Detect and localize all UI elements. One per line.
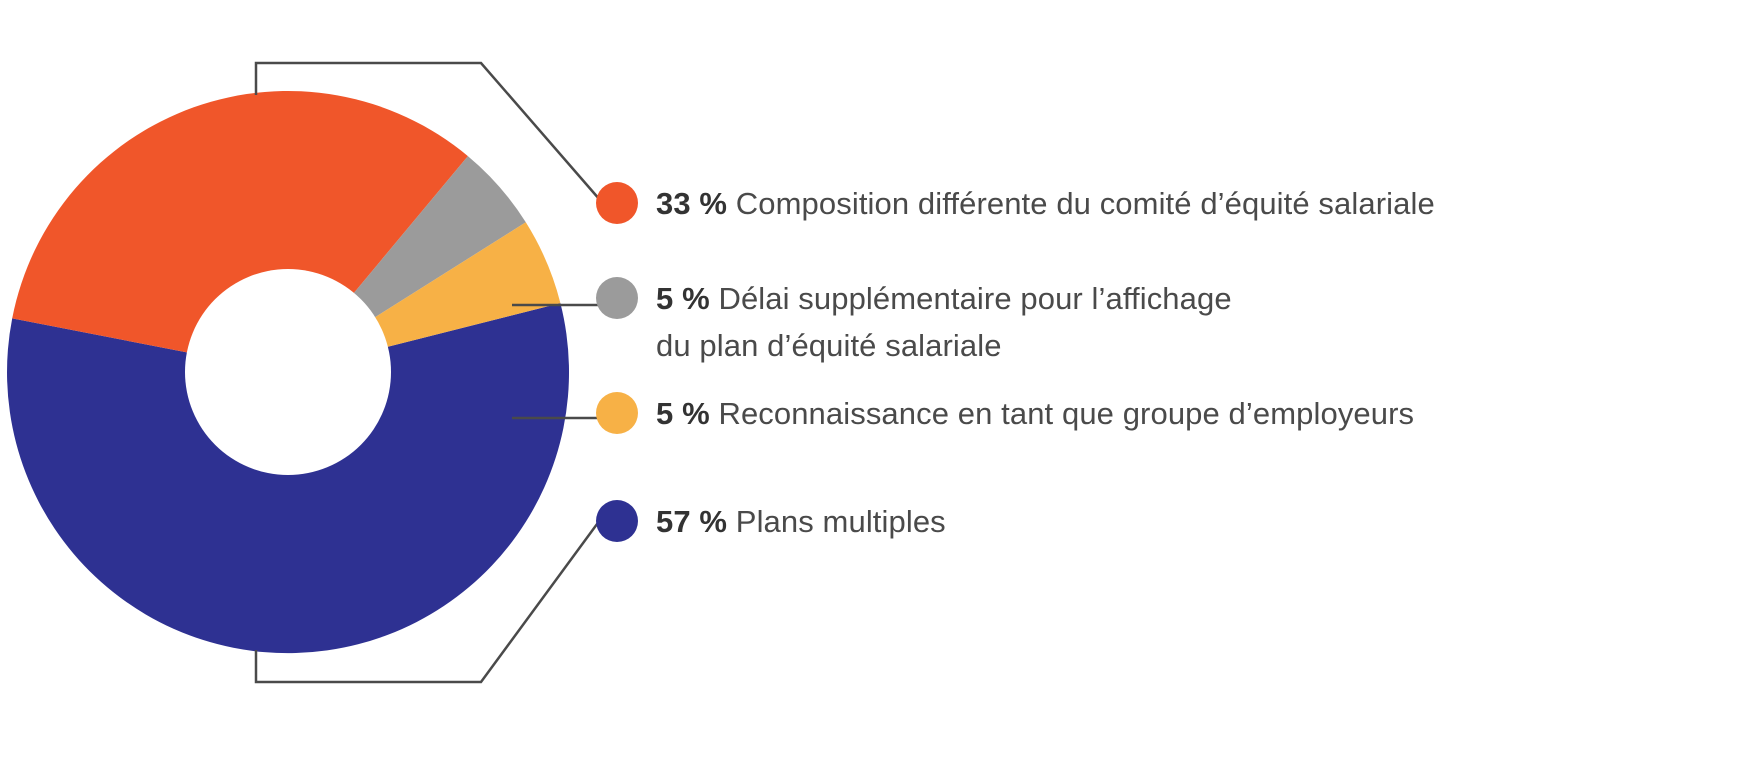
legend-percent-sign: %: [682, 396, 710, 431]
legend: 33 % Composition différente du comité d’…: [596, 0, 1750, 766]
legend-description: Reconnaissance en tant que groupe d’empl…: [718, 396, 1414, 431]
legend-description: Plans multiples: [736, 504, 946, 539]
legend-label-plans-multiples: 57 % Plans multiples: [656, 498, 946, 545]
donut-chart-figure: 33 % Composition différente du comité d’…: [0, 0, 1750, 766]
legend-dot-blue: [596, 500, 638, 542]
legend-description: Délai supplémentaire pour l’affichage: [718, 281, 1231, 316]
legend-item-composition-differente[interactable]: 33 % Composition différente du comité d’…: [596, 180, 1435, 227]
legend-label-composition-differente: 33 % Composition différente du comité d’…: [656, 180, 1435, 227]
legend-dot-orange: [596, 182, 638, 224]
legend-description-line2: du plan d’équité salariale: [656, 322, 1232, 369]
legend-description: Composition différente du comité d’équit…: [736, 186, 1435, 221]
legend-label-delai-supplementaire: 5 % Délai supplémentaire pour l’affichag…: [656, 275, 1232, 369]
legend-dot-amber: [596, 392, 638, 434]
legend-value: 33: [656, 186, 691, 221]
legend-percent-sign: %: [699, 186, 727, 221]
legend-item-reconnaissance[interactable]: 5 % Reconnaissance en tant que groupe d’…: [596, 390, 1414, 437]
legend-percent-sign: %: [699, 504, 727, 539]
legend-value: 5: [656, 281, 673, 316]
legend-item-delai-supplementaire[interactable]: 5 % Délai supplémentaire pour l’affichag…: [596, 275, 1232, 369]
legend-value: 57: [656, 504, 691, 539]
legend-item-plans-multiples[interactable]: 57 % Plans multiples: [596, 498, 946, 545]
legend-label-reconnaissance: 5 % Reconnaissance en tant que groupe d’…: [656, 390, 1414, 437]
legend-dot-gray: [596, 277, 638, 319]
donut-slices: [7, 91, 569, 653]
donut-hole: [185, 269, 391, 475]
legend-value: 5: [656, 396, 673, 431]
legend-percent-sign: %: [682, 281, 710, 316]
